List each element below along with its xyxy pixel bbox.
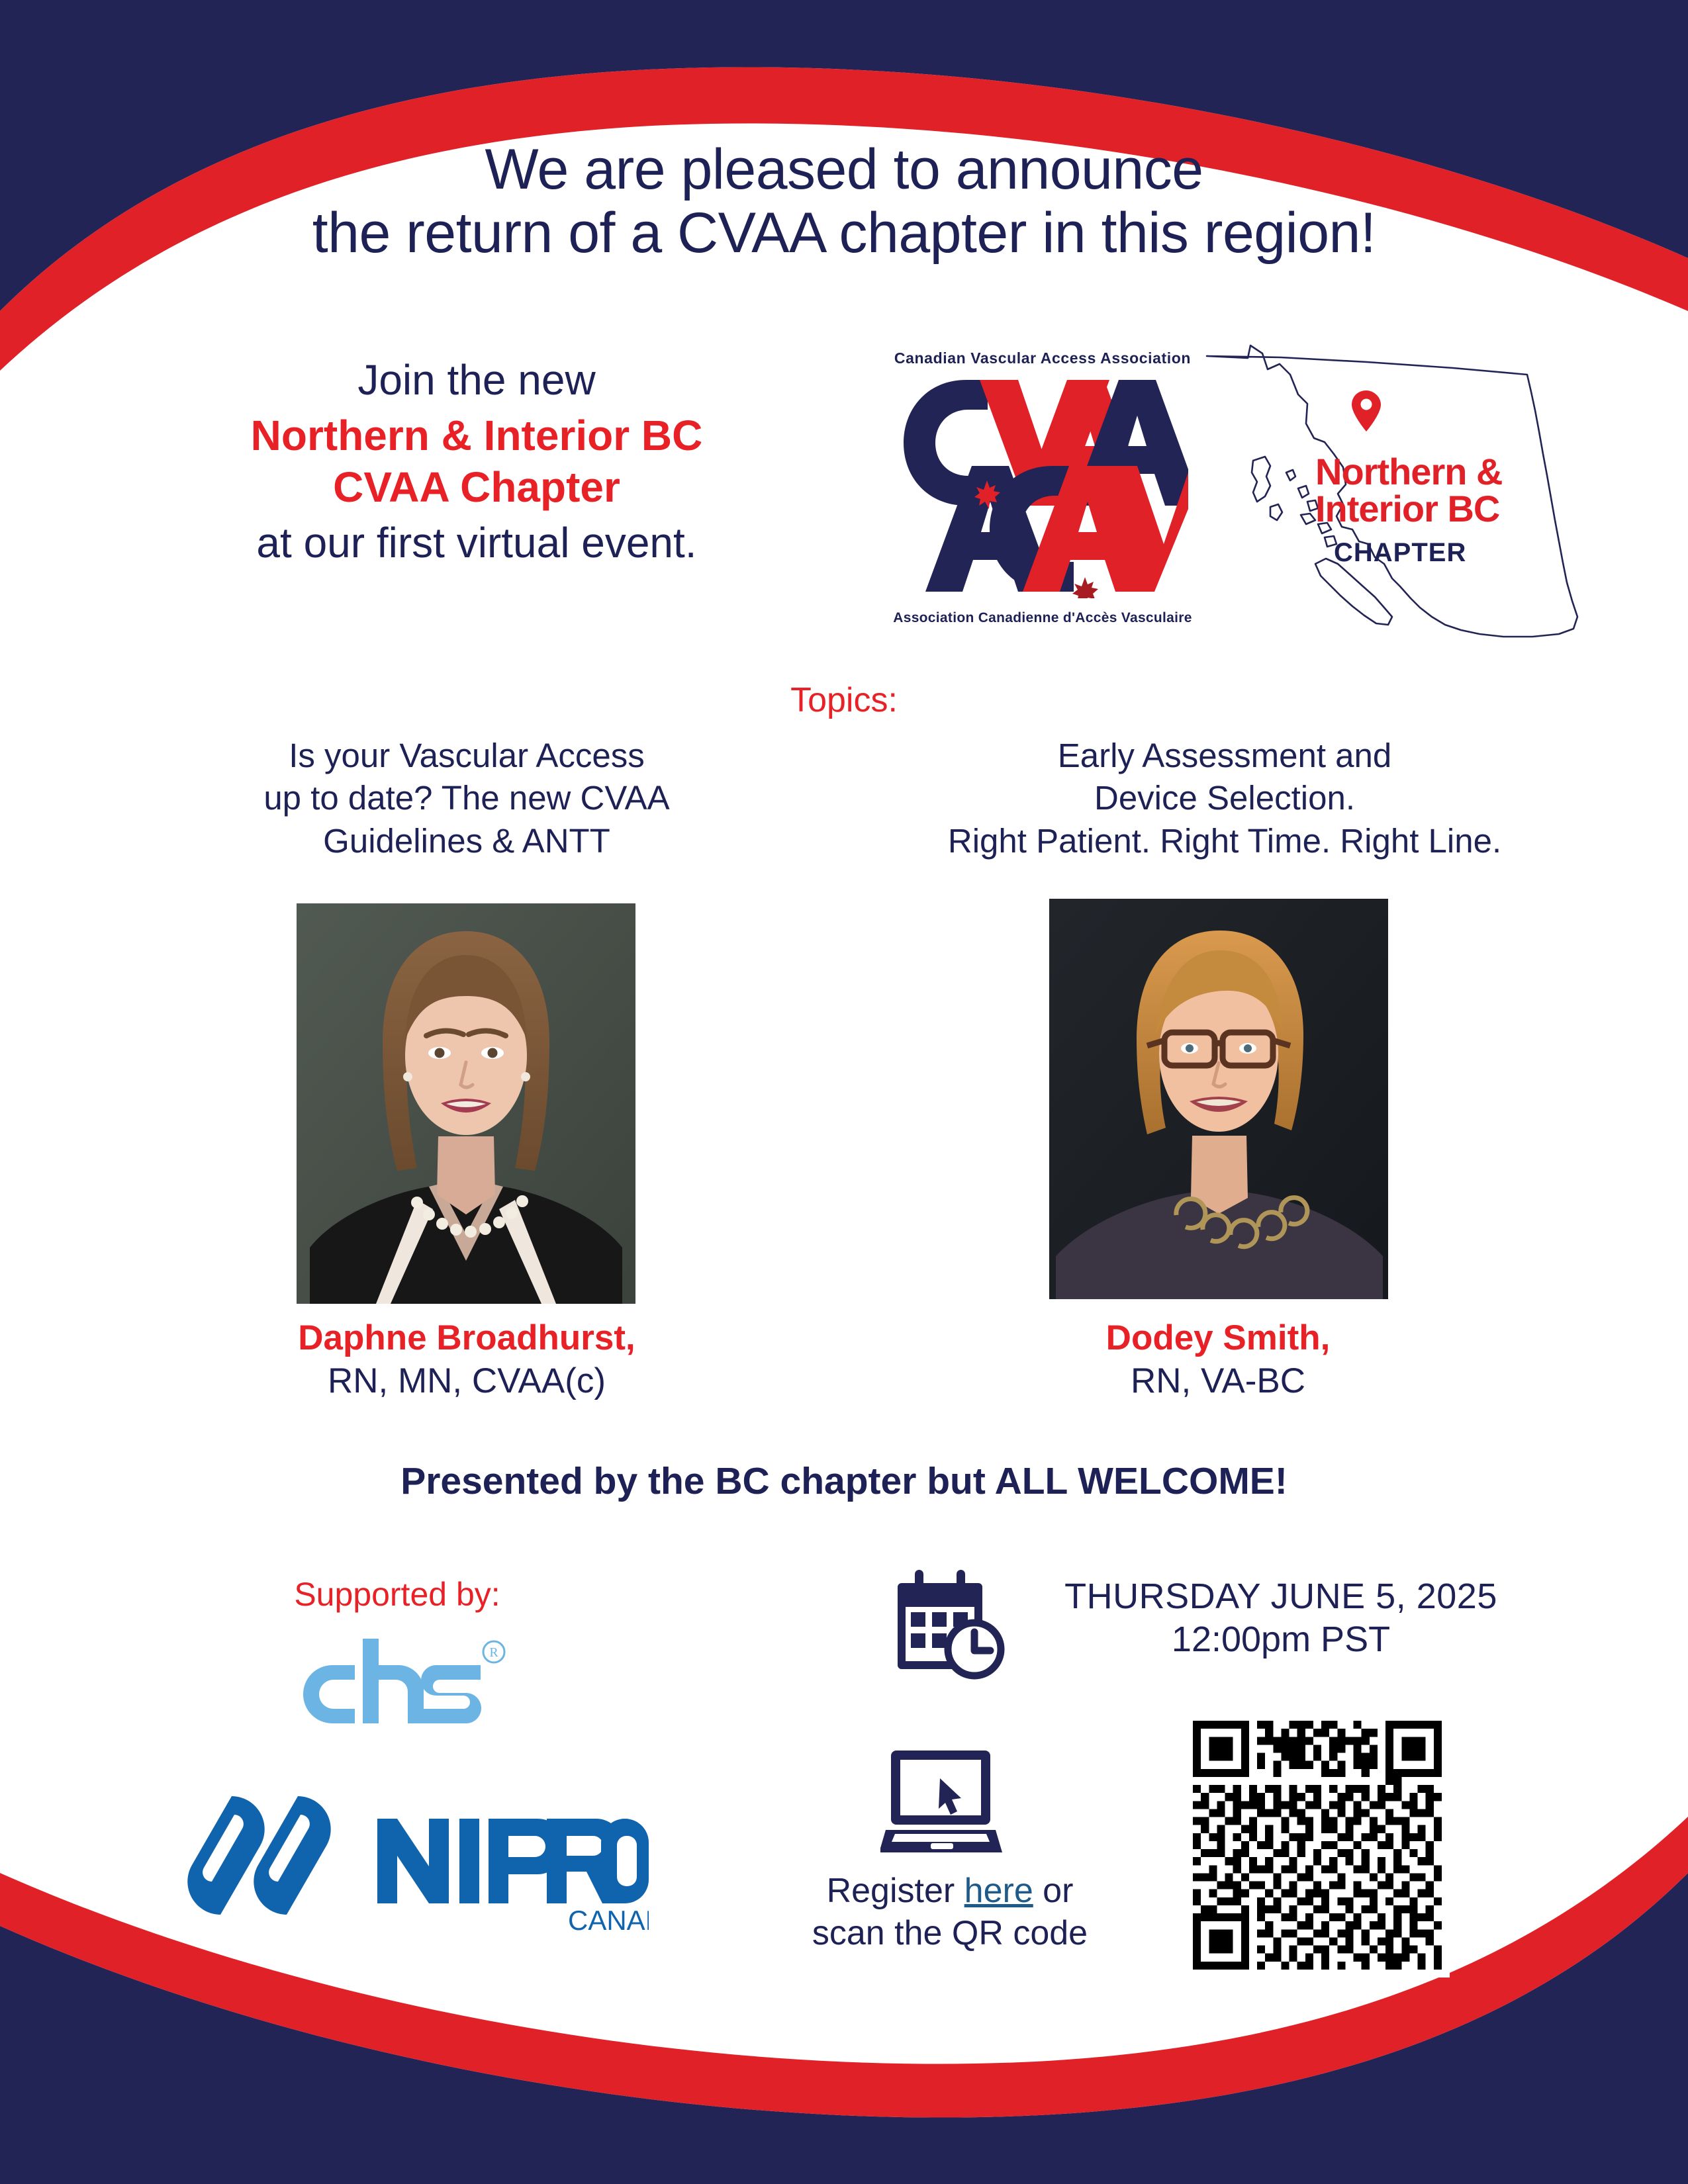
register-suffix: or — [1033, 1872, 1074, 1910]
speaker-1-name: Daphne Broadhurst, — [119, 1317, 814, 1360]
poster-page: We are pleased to announce the return of… — [0, 0, 1688, 2184]
topic-right-line-2: Device Selection. — [827, 777, 1622, 819]
register-here-link[interactable]: here — [964, 1872, 1033, 1910]
register-line-2: scan the QR code — [761, 1912, 1139, 1954]
logo-row: Canadian Vascular Access Association — [880, 331, 1609, 635]
cvaa-logo: Canadian Vascular Access Association — [887, 349, 1198, 627]
join-line-1: Join the new — [79, 354, 874, 406]
topic-left-line-1: Is your Vascular Access — [119, 735, 814, 777]
topics-label: Topics: — [0, 680, 1688, 720]
speaker-caption-2: Dodey Smith, RN, VA-BC — [847, 1317, 1589, 1402]
laptop-cursor-icon — [880, 1744, 1013, 1863]
map-pin-icon — [1350, 389, 1382, 433]
topic-right-line-1: Early Assessment and — [827, 735, 1622, 777]
bc-chapter-logo: Northern & Interior BC CHAPTER — [1201, 331, 1599, 642]
register-prefix: Register — [827, 1872, 964, 1910]
speaker-1-credentials: RN, MN, CVAA(c) — [119, 1360, 814, 1403]
chs-registered-mark: R — [489, 1645, 498, 1660]
event-date: THURSDAY JUNE 5, 2025 — [1023, 1575, 1539, 1618]
speaker-photo-dodey-smith — [1049, 899, 1388, 1299]
headline-line-1: We are pleased to announce — [485, 138, 1203, 201]
join-line-4: at our first virtual event. — [79, 517, 874, 569]
calendar-clock-icon — [894, 1569, 1013, 1681]
register-line-1: Register here or — [761, 1870, 1139, 1912]
register-instructions: Register here or scan the QR code — [761, 1870, 1139, 1955]
nipro-canada-logo: CANADA — [185, 1787, 649, 1939]
join-line-3-chapter: CVAA Chapter — [79, 461, 874, 513]
cvaa-logo-english-name: Canadian Vascular Access Association — [887, 349, 1198, 367]
chs-logo: R — [285, 1635, 523, 1727]
topic-left-line-3: Guidelines & ANTT — [119, 820, 814, 862]
event-time: 12:00pm PST — [1023, 1618, 1539, 1661]
supported-by-label: Supported by: — [179, 1575, 616, 1614]
topic-left-line-2: up to date? The new CVAA — [119, 777, 814, 819]
bc-title-line-2: Interior BC — [1315, 490, 1593, 527]
page-title: We are pleased to announce the return of… — [0, 138, 1688, 265]
join-invitation: Join the new Northern & Interior BC CVAA… — [79, 354, 874, 569]
cvaa-logo-french-name: Association Canadienne d'Accès Vasculair… — [887, 610, 1198, 626]
bc-title-line-1: Northern & — [1315, 453, 1593, 490]
speaker-caption-1: Daphne Broadhurst, RN, MN, CVAA(c) — [119, 1317, 814, 1402]
speaker-2-credentials: RN, VA-BC — [847, 1360, 1589, 1403]
presented-by-note: Presented by the BC chapter but ALL WELC… — [0, 1459, 1688, 1503]
headline-line-2: the return of a CVAA chapter in this reg… — [0, 201, 1688, 265]
speaker-2-name: Dodey Smith, — [847, 1317, 1589, 1360]
topic-right-line-3: Right Patient. Right Time. Right Line. — [827, 820, 1622, 862]
speaker-photo-daphne-broadhurst — [297, 903, 635, 1304]
cvaa-wordmark-icon — [900, 373, 1188, 598]
topic-right: Early Assessment and Device Selection. R… — [827, 735, 1622, 862]
event-datetime: THURSDAY JUNE 5, 2025 12:00pm PST — [1023, 1575, 1539, 1661]
bc-chapter-word: CHAPTER — [1334, 538, 1579, 568]
topic-left: Is your Vascular Access up to date? The … — [119, 735, 814, 862]
bc-chapter-title: Northern & Interior BC — [1315, 453, 1593, 527]
nipro-canada-subtext: CANADA — [568, 1905, 649, 1936]
qr-code[interactable] — [1185, 1713, 1450, 1978]
join-line-2-chapter-region: Northern & Interior BC — [79, 410, 874, 461]
